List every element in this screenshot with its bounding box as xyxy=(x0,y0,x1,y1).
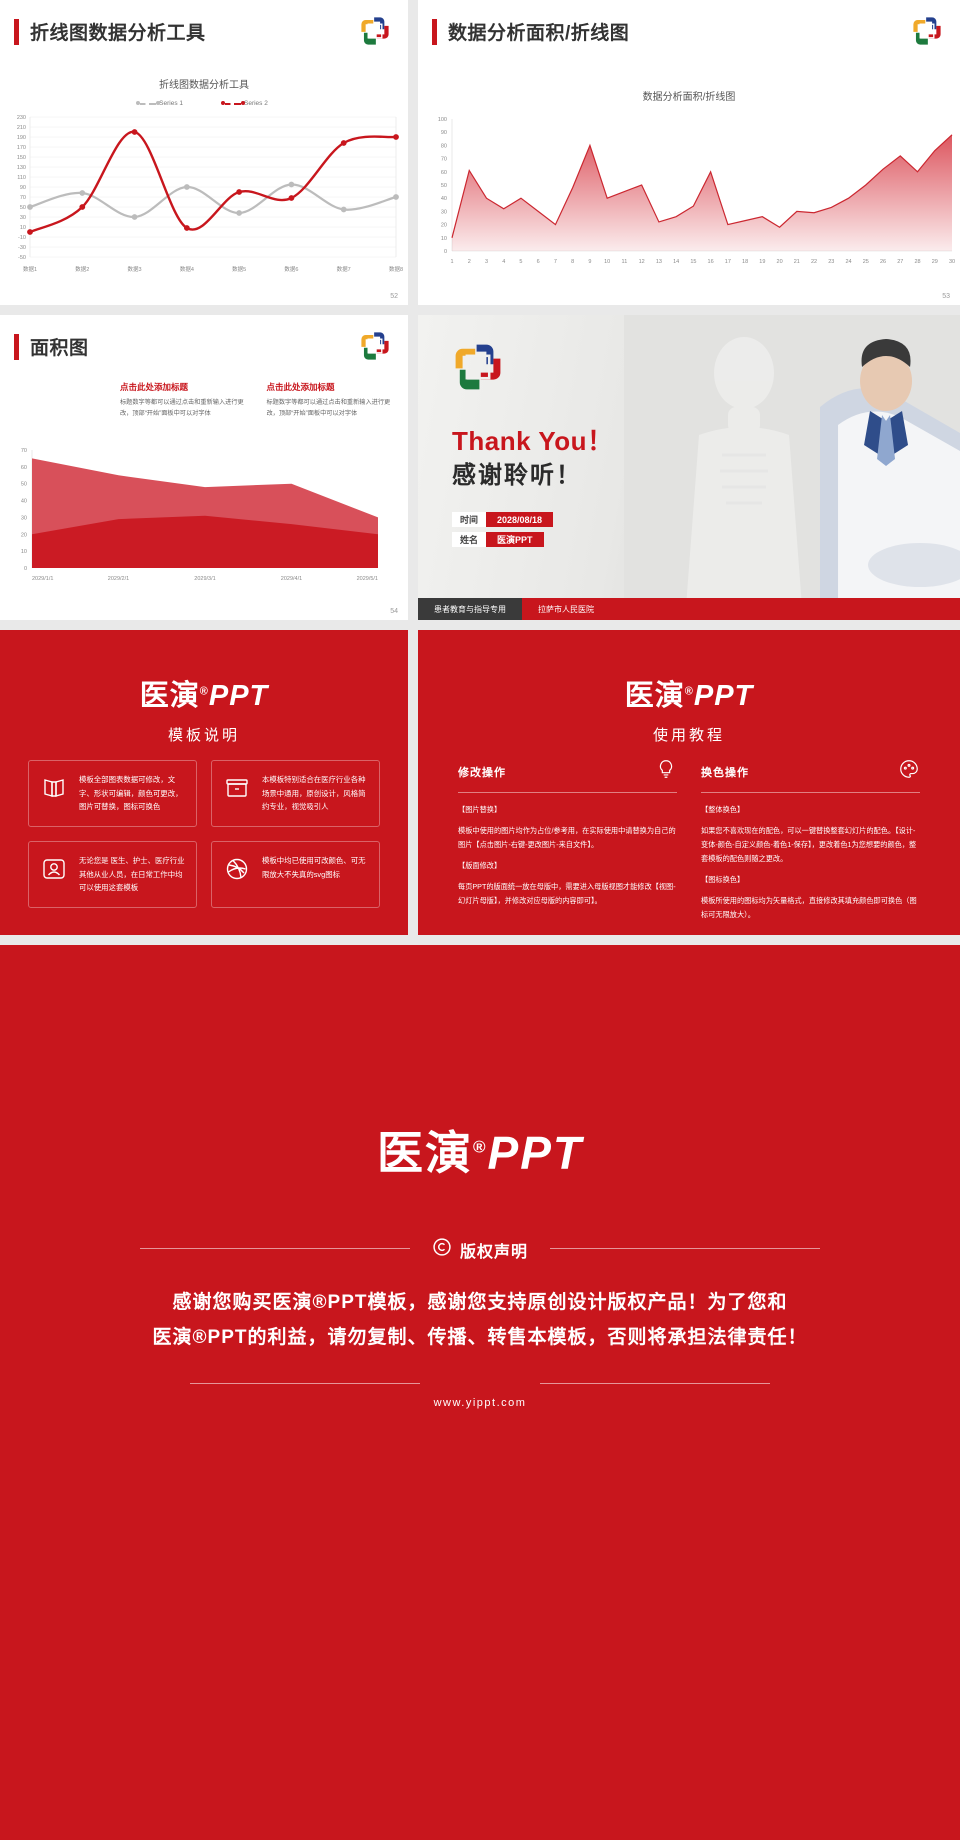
svg-text:6: 6 xyxy=(537,259,540,265)
brand-ppt-mark: PPT xyxy=(488,1127,583,1179)
legend-swatch-icon xyxy=(140,103,156,105)
instruction-card-text: 模板中均已使用可改颜色、可无限放大不失真的svg图标 xyxy=(262,854,369,881)
svg-text:90: 90 xyxy=(441,130,447,136)
brand-name-cn: 医演 xyxy=(625,680,685,712)
svg-text:数据8: 数据8 xyxy=(389,265,403,273)
thank-you-chinese: 感谢聆听！ xyxy=(452,455,582,490)
svg-text:2029/5/1: 2029/5/1 xyxy=(357,576,378,582)
svg-text:50: 50 xyxy=(441,183,447,189)
svg-text:数据6: 数据6 xyxy=(284,265,298,273)
dribbble-icon xyxy=(222,854,252,884)
brand-registered-mark: ® xyxy=(685,685,694,697)
svg-text:17: 17 xyxy=(725,259,731,265)
slide-thank-you[interactable]: Thank You！ 感谢聆听！ 时间 2028/08/18 姓名 医演PPT … xyxy=(418,315,960,620)
svg-text:28: 28 xyxy=(914,259,920,265)
svg-text:150: 150 xyxy=(17,155,26,161)
tutorial-grid: 修改操作 【图片替换】 模板中使用的图片均作为占位/参考用，在实际使用中请替换为… xyxy=(458,758,920,929)
svg-text:210: 210 xyxy=(17,125,26,131)
instruction-card[interactable]: 无论您是 医生、护士、医疗行业其他从业人员，在日常工作中均可以使用这套模板 xyxy=(28,841,197,908)
instruction-card[interactable]: 模板中均已使用可改颜色、可无限放大不失真的svg图标 xyxy=(211,841,380,908)
svg-text:数据5: 数据5 xyxy=(232,265,246,273)
svg-text:70: 70 xyxy=(20,195,26,201)
yippt-pinwheel-logo-icon xyxy=(358,329,392,363)
chart-legend: Series 1 Series 2 xyxy=(0,100,408,107)
doctor-photo xyxy=(624,315,960,620)
svg-text:数据7: 数据7 xyxy=(337,265,351,273)
box-icon xyxy=(222,773,252,803)
caption-block-1: 点击此处添加标题 标题数字等都可以通过点击和重新输入进行更改，顶部“开始”面板中… xyxy=(120,381,249,420)
brand-ppt-mark: PPT xyxy=(209,680,268,712)
slide-53-header: 数据分析面积/折线图 xyxy=(432,18,629,45)
brand-registered-mark: ® xyxy=(473,1138,488,1157)
yippt-pinwheel-logo-icon xyxy=(450,339,506,400)
caption-title: 点击此处添加标题 xyxy=(120,381,249,393)
brand-block: 医演®PPT 使用教程 xyxy=(418,672,960,745)
svg-text:2029/4/1: 2029/4/1 xyxy=(281,576,302,582)
slide-54-header: 面积图 xyxy=(14,333,89,360)
user-icon xyxy=(39,854,69,884)
header-accent-bar xyxy=(14,19,19,45)
svg-text:40: 40 xyxy=(441,196,447,202)
svg-text:80: 80 xyxy=(441,143,447,149)
brand-registered-mark: ® xyxy=(200,685,209,697)
name-row: 姓名 医演PPT xyxy=(452,532,544,547)
svg-text:数据2: 数据2 xyxy=(75,265,89,273)
svg-text:30: 30 xyxy=(21,515,27,521)
svg-text:25: 25 xyxy=(863,259,869,265)
tutorial-column-color: 换色操作 【整体换色】 如果您不喜欢现在的配色，可以一键替换整套幻灯片的配色。【… xyxy=(701,758,920,929)
svg-text:0: 0 xyxy=(444,249,447,255)
svg-text:110: 110 xyxy=(17,175,26,181)
svg-text:30: 30 xyxy=(949,259,955,265)
svg-text:26: 26 xyxy=(880,259,886,265)
caption-title: 点击此处添加标题 xyxy=(267,381,396,393)
copyright-text-line-2: 医演®PPT的利益，请勿复制、传播、转售本模板，否则将承担法律责任！ xyxy=(0,1320,960,1355)
instruction-card-text: 模板全部图表数据可修改，文字、形状可编辑，颜色可更改，图片可替换，图标可换色 xyxy=(79,773,186,814)
tutorial-column-edit: 修改操作 【图片替换】 模板中使用的图片均作为占位/参考用，在实际使用中请替换为… xyxy=(458,758,677,929)
footer-right-label: 拉萨市人民医院 xyxy=(522,598,960,620)
svg-text:23: 23 xyxy=(828,259,834,265)
svg-text:130: 130 xyxy=(17,165,26,171)
svg-text:30: 30 xyxy=(441,209,447,215)
svg-text:-50: -50 xyxy=(18,255,26,261)
svg-text:14: 14 xyxy=(673,259,679,265)
copyright-icon xyxy=(432,1237,452,1262)
svg-text:19: 19 xyxy=(759,259,765,265)
svg-text:20: 20 xyxy=(441,223,447,229)
brand-logo-large: 医演®PPT xyxy=(0,1117,960,1183)
svg-text:24: 24 xyxy=(845,259,851,265)
copyright-badge-label: 版权声明 xyxy=(460,1238,528,1262)
svg-text:5: 5 xyxy=(519,259,522,265)
brand-block: 医演®PPT 模板说明 xyxy=(0,672,408,745)
svg-text:10: 10 xyxy=(20,225,26,231)
legend-item-series-1: Series 1 xyxy=(140,100,183,107)
tutorial-paragraph: 【图标换色】 xyxy=(701,873,920,887)
svg-text:11: 11 xyxy=(622,259,628,265)
svg-text:50: 50 xyxy=(20,205,26,211)
website-url[interactable]: www.yippt.com xyxy=(0,1397,960,1409)
svg-text:-10: -10 xyxy=(18,235,26,241)
svg-text:18: 18 xyxy=(742,259,748,265)
svg-text:13: 13 xyxy=(656,259,662,265)
svg-text:29: 29 xyxy=(932,259,938,265)
svg-text:10: 10 xyxy=(604,259,610,265)
caption-body: 标题数字等都可以通过点击和重新输入进行更改，顶部“开始”面板中可以对字体 xyxy=(267,398,396,420)
page-title: 折线图数据分析工具 xyxy=(30,18,206,45)
copyright-badge: 版权声明 xyxy=(0,1237,960,1262)
slide-52-header: 折线图数据分析工具 xyxy=(14,18,206,45)
svg-text:数据3: 数据3 xyxy=(128,265,142,273)
tutorial-paragraph: 每页PPT的版面统一放在母版中，需要进入母版视图才能修改【视图-幻灯片母版】，并… xyxy=(458,880,677,908)
slide-template-instructions[interactable]: 医演®PPT 模板说明 模板全部图表数据可修改，文字、形状可编辑，颜色可更改，图… xyxy=(0,630,408,935)
copyright-text: 感谢您购买医演®PPT模板，感谢您支持原创设计版权产品！为了您和 医演®PPT的… xyxy=(0,1285,960,1355)
header-accent-bar xyxy=(432,19,437,45)
instruction-card[interactable]: 本模板特别适合在医疗行业各种场景中通用，原创设计，风格简约专业，视觉吸引人 xyxy=(211,760,380,827)
tutorial-paragraph: 如果您不喜欢现在的配色，可以一键替换整套幻灯片的配色。【设计-变体-颜色-自定义… xyxy=(701,824,920,866)
svg-text:90: 90 xyxy=(20,185,26,191)
chart-52-container: 折线图数据分析工具 Series 1 Series 2 230210190170… xyxy=(0,76,408,305)
svg-text:9: 9 xyxy=(588,259,591,265)
svg-text:数据4: 数据4 xyxy=(180,265,194,273)
svg-text:20: 20 xyxy=(21,532,27,538)
name-label: 姓名 xyxy=(452,532,486,547)
area-chart-svg: 1009080706050403020100 12345678910111213… xyxy=(418,111,960,291)
instruction-card[interactable]: 模板全部图表数据可修改，文字、形状可编辑，颜色可更改，图片可替换，图标可换色 xyxy=(28,760,197,827)
tutorial-column-title: 修改操作 xyxy=(458,764,506,780)
svg-text:3: 3 xyxy=(485,259,488,265)
thank-you-footer: 患者教育与指导专用 拉萨市人民医院 xyxy=(418,598,960,620)
yippt-pinwheel-logo-icon xyxy=(910,14,944,48)
svg-text:30: 30 xyxy=(20,215,26,221)
svg-text:50: 50 xyxy=(21,482,27,488)
svg-text:2029/3/1: 2029/3/1 xyxy=(194,576,215,582)
tutorial-column-header: 修改操作 xyxy=(458,758,677,793)
svg-text:15: 15 xyxy=(690,259,696,265)
legend-item-series-2: Series 2 xyxy=(225,100,268,107)
svg-text:2029/1/1: 2029/1/1 xyxy=(32,576,53,582)
slide-usage-tutorial[interactable]: 医演®PPT 使用教程 修改操作 【图片替换】 模板中使用的图片均作为占位/参考… xyxy=(418,630,960,935)
svg-text:2029/2/1: 2029/2/1 xyxy=(108,576,129,582)
page-title: 面积图 xyxy=(30,333,89,360)
legend-label: Series 2 xyxy=(244,100,268,107)
slide-54-captions: 点击此处添加标题 标题数字等都可以通过点击和重新输入进行更改，顶部“开始”面板中… xyxy=(120,381,395,420)
svg-text:60: 60 xyxy=(441,170,447,176)
page-title: 数据分析面积/折线图 xyxy=(448,18,629,45)
svg-text:190: 190 xyxy=(17,135,26,141)
thank-you-english: Thank You！ xyxy=(452,421,614,458)
slide-54[interactable]: 面积图 点击此处添加标题 标题数字等都可以通过点击和重新输入进行更改，顶部“开始… xyxy=(0,315,408,620)
line-chart-svg: 2302101901701501301109070503010-10-30-50… xyxy=(0,107,408,305)
tutorial-paragraph: 【版面修改】 xyxy=(458,859,677,873)
brand-logo: 医演®PPT xyxy=(0,672,408,714)
svg-text:12: 12 xyxy=(639,259,645,265)
svg-text:230: 230 xyxy=(17,115,26,121)
svg-text:22: 22 xyxy=(811,259,817,265)
chart-title: 数据分析面积/折线图 xyxy=(418,88,960,103)
tutorial-paragraph: 【整体换色】 xyxy=(701,803,920,817)
tutorial-paragraph: 模板中使用的图片均作为占位/参考用，在实际使用中请替换为自己的图片【点击图片-右… xyxy=(458,824,677,852)
slide-copyright[interactable]: 医演®PPT 版权声明 感谢您购买医演®PPT模板，感谢您支持原创设计版权产品！… xyxy=(0,945,960,1840)
tutorial-column-title: 换色操作 xyxy=(701,764,749,780)
brand-name-cn: 医演 xyxy=(140,680,200,712)
svg-text:10: 10 xyxy=(21,549,27,555)
time-value: 2028/08/18 xyxy=(486,512,553,527)
slide-53[interactable]: 数据分析面积/折线图 数据分析面积/折线图 100908070605 xyxy=(418,0,960,305)
tutorial-column-body: 【整体换色】 如果您不喜欢现在的配色，可以一键替换整套幻灯片的配色。【设计-变体… xyxy=(701,803,920,922)
time-row: 时间 2028/08/18 xyxy=(452,512,553,527)
slide-deck-thumbnail-page: 折线图数据分析工具 折线图数据分析工具 Series 1 Series 2 xyxy=(0,0,960,1840)
svg-text:10: 10 xyxy=(441,236,447,242)
footer-left-label: 患者教育与指导专用 xyxy=(418,598,522,620)
svg-text:27: 27 xyxy=(897,259,903,265)
brand-ppt-mark: PPT xyxy=(694,680,753,712)
slide-page-number: 53 xyxy=(942,293,950,300)
time-label: 时间 xyxy=(452,512,486,527)
svg-text:21: 21 xyxy=(794,259,800,265)
svg-text:40: 40 xyxy=(21,499,27,505)
slide-52[interactable]: 折线图数据分析工具 折线图数据分析工具 Series 1 Series 2 xyxy=(0,0,408,305)
svg-text:20: 20 xyxy=(777,259,783,265)
svg-text:1: 1 xyxy=(450,259,453,265)
tutorial-paragraph: 模板所使用的图标均为矢量格式，直接修改其填充颜色即可换色（图标可无限放大）。 xyxy=(701,894,920,922)
svg-text:7: 7 xyxy=(554,259,557,265)
yippt-pinwheel-logo-icon xyxy=(358,14,392,48)
stacked-area-chart-svg: 706050403020100 2029/1/12029/2/12029/3/1… xyxy=(0,440,408,600)
instruction-card-text: 无论您是 医生、护士、医疗行业其他从业人员，在日常工作中均可以使用这套模板 xyxy=(79,854,186,895)
svg-text:70: 70 xyxy=(441,157,447,163)
brand-subtitle: 使用教程 xyxy=(418,724,960,745)
svg-text:数据1: 数据1 xyxy=(23,265,37,273)
legend-swatch-icon xyxy=(225,103,241,105)
caption-block-2: 点击此处添加标题 标题数字等都可以通过点击和重新输入进行更改，顶部“开始”面板中… xyxy=(267,381,396,420)
tutorial-column-body: 【图片替换】 模板中使用的图片均作为占位/参考用，在实际使用中请替换为自己的图片… xyxy=(458,803,677,908)
svg-text:70: 70 xyxy=(21,448,27,454)
copyright-text-line-1: 感谢您购买医演®PPT模板，感谢您支持原创设计版权产品！为了您和 xyxy=(0,1285,960,1320)
header-accent-bar xyxy=(14,334,19,360)
chart-53-container: 数据分析面积/折线图 1009080706050403020100 123456… xyxy=(418,88,960,291)
tutorial-paragraph: 【图片替换】 xyxy=(458,803,677,817)
svg-text:-30: -30 xyxy=(18,245,26,251)
palette-icon xyxy=(898,758,920,785)
svg-text:0: 0 xyxy=(24,566,27,572)
divider-url-left xyxy=(190,1383,420,1384)
brand-logo: 医演®PPT xyxy=(418,672,960,714)
lightbulb-icon xyxy=(655,758,677,785)
svg-text:8: 8 xyxy=(571,259,574,265)
book-icon xyxy=(39,773,69,803)
legend-label: Series 1 xyxy=(159,100,183,107)
svg-text:16: 16 xyxy=(708,259,714,265)
svg-text:170: 170 xyxy=(17,145,26,151)
svg-text:4: 4 xyxy=(502,259,505,265)
svg-text:2: 2 xyxy=(468,259,471,265)
tutorial-column-header: 换色操作 xyxy=(701,758,920,793)
name-value: 医演PPT xyxy=(486,532,544,547)
instruction-card-grid: 模板全部图表数据可修改，文字、形状可编辑，颜色可更改，图片可替换，图标可换色 本… xyxy=(28,760,380,908)
svg-text:100: 100 xyxy=(438,117,447,123)
chart-title: 折线图数据分析工具 xyxy=(0,76,408,91)
brand-name-cn: 医演 xyxy=(377,1127,473,1179)
divider-url-right xyxy=(540,1383,770,1384)
svg-text:60: 60 xyxy=(21,465,27,471)
caption-body: 标题数字等都可以通过点击和重新输入进行更改，顶部“开始”面板中可以对字体 xyxy=(120,398,249,420)
brand-subtitle: 模板说明 xyxy=(0,724,408,745)
slide-page-number: 54 xyxy=(390,608,398,615)
slide-page-number: 52 xyxy=(390,293,398,300)
instruction-card-text: 本模板特别适合在医疗行业各种场景中通用，原创设计，风格简约专业，视觉吸引人 xyxy=(262,773,369,814)
